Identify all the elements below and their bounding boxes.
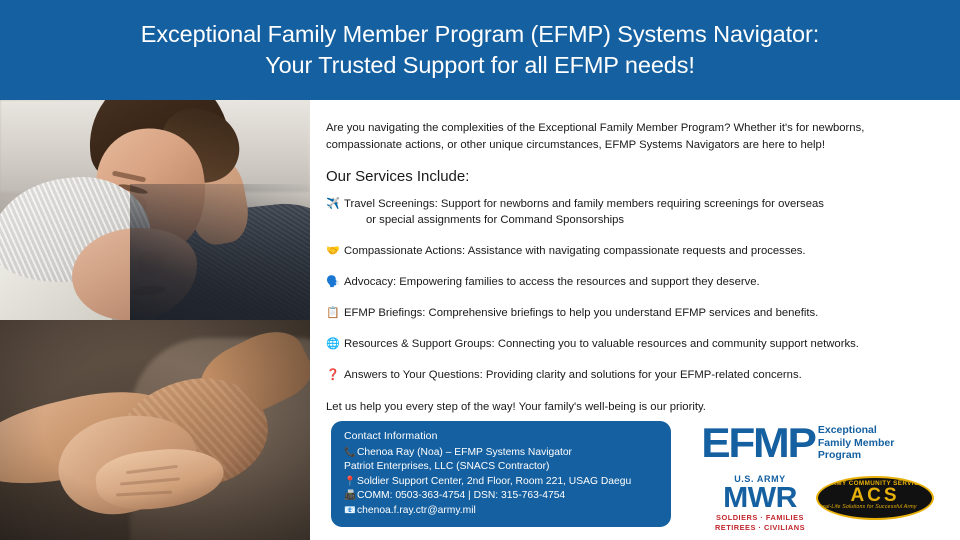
contact-card-title: Contact Information: [344, 430, 671, 442]
efmp-logo-wordmark: EFMP: [701, 422, 814, 464]
contact-line-email[interactable]: 📧 chenoa.f.ray.ctr@army.mil: [344, 504, 671, 518]
services-list: ✈️ Travel Screenings: Support for newbor…: [326, 197, 960, 383]
handshake-icon: 🤝: [326, 244, 341, 260]
service-text: EFMP Briefings: Comprehensive briefings …: [344, 306, 960, 322]
service-item-efmp-briefings: 📋 EFMP Briefings: Comprehensive briefing…: [326, 306, 960, 322]
phone-icon: 📞: [344, 446, 357, 460]
efmp-logo-tagline: Exceptional Family Member Program: [818, 424, 894, 462]
photo2-vignette: [0, 320, 310, 540]
service-item-compassionate-actions: 🤝 Compassionate Actions: Assistance with…: [326, 244, 960, 260]
page-title-line-2: Your Trusted Support for all EFMP needs!: [265, 50, 695, 81]
efmp-tagline-line-3: Program: [818, 449, 894, 462]
efmp-tagline-line-2: Family Member: [818, 437, 894, 450]
contact-information-card: Contact Information 📞 Chenoa Ray (Noa) –…: [331, 421, 671, 527]
service-text: Resources & Support Groups: Connecting y…: [344, 337, 960, 353]
service-text: Travel Screenings: Support for newborns …: [344, 197, 960, 228]
service-text: Compassionate Actions: Assistance with n…: [344, 244, 960, 260]
airplane-icon: ✈️: [326, 197, 341, 213]
intro-paragraph: Are you navigating the complexities of t…: [326, 120, 938, 153]
contact-line-address: 📍 Soldier Support Center, 2nd Floor, Roo…: [344, 475, 671, 489]
acs-logo-tagline: Real-Life Solutions for Successful Army …: [818, 504, 932, 516]
globe-icon: 🌐: [326, 337, 341, 353]
mwr-logo-wordmark: MWR: [704, 484, 816, 513]
efmp-logo: EFMP Exceptional Family Member Program: [704, 422, 894, 464]
map-pin-icon: 📍: [344, 475, 357, 489]
service-text: Advocacy: Empowering families to access …: [344, 275, 960, 291]
footer-row: Contact Information 📞 Chenoa Ray (Noa) –…: [326, 416, 960, 540]
main-content: Are you navigating the complexities of t…: [326, 100, 960, 540]
email-icon: 📧: [344, 504, 357, 518]
contact-line-text: COMM: 0503-363-4754 | DSN: 315-763-4754: [357, 489, 565, 503]
us-army-mwr-logo: U.S. ARMY MWR SOLDIERS · FAMILIES RETIRE…: [706, 474, 814, 532]
services-heading: Our Services Include:: [326, 168, 960, 185]
service-item-travel-screenings: ✈️ Travel Screenings: Support for newbor…: [326, 197, 960, 228]
service-label: Travel Screenings: Support for newborns …: [344, 198, 824, 210]
contact-line-text: Patriot Enterprises, LLC (SNACS Contract…: [344, 460, 549, 474]
page-header-banner: Exceptional Family Member Program (EFMP)…: [0, 0, 960, 100]
mwr-logo-bottom-line-2: RETIREES · CIVILIANS: [706, 523, 814, 533]
service-item-advocacy: 🗣️ Advocacy: Empowering families to acce…: [326, 275, 960, 291]
closing-paragraph: Let us help you every step of the way! Y…: [326, 399, 960, 415]
page-title-line-1: Exceptional Family Member Program (EFMP)…: [141, 19, 819, 50]
photo1-shadow: [130, 184, 310, 320]
fax-icon: 📠: [344, 489, 357, 503]
mwr-logo-bottom-line-1: SOLDIERS · FAMILIES: [706, 513, 814, 523]
contact-email-address[interactable]: chenoa.f.ray.ctr@army.mil: [357, 504, 476, 518]
service-subtext: or special assignments for Command Spons…: [344, 213, 960, 229]
logo-group: EFMP Exceptional Family Member Program U…: [694, 416, 956, 534]
service-text: Answers to Your Questions: Providing cla…: [344, 368, 960, 384]
contact-line-company: Patriot Enterprises, LLC (SNACS Contract…: [344, 460, 671, 474]
speaking-head-icon: 🗣️: [326, 275, 341, 291]
contact-line-phone-numbers: 📠 COMM: 0503-363-4754 | DSN: 315-763-475…: [344, 489, 671, 503]
service-item-answers-to-your-questions: ❓ Answers to Your Questions: Providing c…: [326, 368, 960, 384]
contact-line-text: Chenoa Ray (Noa) – EFMP Systems Navigato…: [357, 446, 572, 460]
army-community-service-acs-logo: ARMY COMMUNITY SERVICE ACS Real-Life Sol…: [816, 476, 934, 520]
photo-column: [0, 100, 310, 540]
contact-line-text: Soldier Support Center, 2nd Floor, Room …: [357, 475, 631, 489]
service-item-resources-support-groups: 🌐 Resources & Support Groups: Connecting…: [326, 337, 960, 353]
clipboard-icon: 📋: [326, 306, 341, 322]
efmp-tagline-line-1: Exceptional: [818, 424, 894, 437]
question-mark-icon: ❓: [326, 368, 341, 384]
acs-logo-wordmark: ACS: [850, 486, 899, 505]
photo-woman-kissing-elderly-woman-forehead: [0, 100, 310, 320]
contact-line-navigator: 📞 Chenoa Ray (Noa) – EFMP Systems Naviga…: [344, 446, 671, 460]
photo-hands-holding-elderly-hand: [0, 320, 310, 540]
